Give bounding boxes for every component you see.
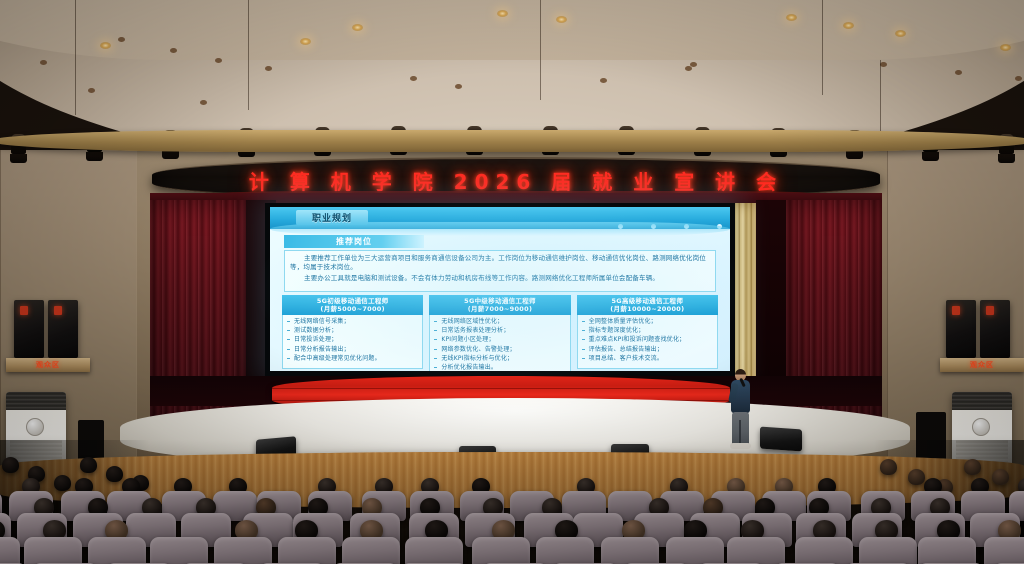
downlight-icon	[895, 30, 906, 37]
column-salary: (月薪10000~20000)	[577, 305, 718, 313]
slide-paragraph-box: 主要推荐工作单位为三大运营商项目和服务商通信设备公司为主。工作岗位为移动通信维护…	[284, 250, 716, 292]
slide-paragraph: 主要办公工具就是电脑和测试设备。不会有体力劳动和机房布线等工作内容。路测网络优化…	[290, 274, 710, 283]
ceiling-fixture-dot	[215, 58, 222, 63]
column-title: 5G初级移动通信工程师	[282, 297, 423, 305]
presenter-legs	[732, 412, 749, 445]
slide-column-header: 5G初级移动通信工程师 (月薪5000~7000)	[282, 295, 423, 315]
ac-grill	[6, 392, 66, 410]
list-item: 无线KPI指标分析与优化；	[441, 355, 566, 363]
ceiling-fixture-dot	[410, 76, 417, 81]
audience-seat	[536, 537, 594, 564]
downlight-icon	[1000, 44, 1011, 51]
slide-column-body: 无线网络信号采集； 测试数据分析； 日常投诉处理； 日常分析报告输出； 配合中高…	[282, 315, 423, 369]
ceiling-fixture-dot	[118, 37, 125, 42]
slide-column-group: 5G初级移动通信工程师 (月薪5000~7000) 无线网络信号采集； 测试数据…	[282, 295, 718, 369]
slide-title: 职业规划	[296, 210, 368, 225]
downlight-icon	[786, 14, 797, 21]
list-item: 配合中高级处理常见优化问题。	[294, 355, 419, 363]
column-title: 5G高级移动通信工程师	[577, 297, 718, 305]
hanging-wire	[822, 0, 823, 95]
ceiling-fixture-dot	[40, 60, 47, 65]
audience-seat	[214, 537, 272, 564]
ceiling-fixture-dot	[170, 48, 177, 53]
lighting-truss-ledge	[0, 130, 1024, 152]
presenter	[727, 369, 755, 451]
list-item: 网络参数优化、告警处理；	[441, 346, 566, 354]
ceiling-fixture-dot	[690, 62, 697, 67]
ac-grill	[952, 392, 1012, 410]
speaker-indicator-led	[54, 306, 62, 315]
ceiling-fixture-dot	[88, 88, 95, 93]
ceiling-fixture-dot	[455, 84, 462, 89]
hanging-wire	[75, 0, 76, 115]
zone-sign-left: 观众区	[36, 360, 60, 370]
slide-column-body: 全网整体质量评估优化； 指标专题深度优化； 重点难点KPI和投诉问题查找优化； …	[577, 315, 718, 369]
downlight-icon	[100, 42, 111, 49]
ceiling-fixture-dot	[955, 70, 962, 75]
audience-seat	[666, 537, 724, 564]
ceiling-fixture-dot	[1015, 76, 1022, 81]
slide-column-body: 无线网络区域性优化； 日常话务报表处理分析； KPI问题小区处理； 网络参数优化…	[429, 315, 570, 371]
ceiling-fixture-dot	[685, 66, 692, 71]
slide-column-header: 5G高级移动通信工程师 (月薪10000~20000)	[577, 295, 718, 315]
list-item: 日常话务报表处理分析；	[441, 327, 566, 335]
audience-seat	[88, 537, 146, 564]
audience-seat	[0, 537, 20, 564]
list-item: 全网整体质量评估优化；	[589, 318, 714, 326]
audience-seat	[727, 537, 785, 564]
audience-member-head	[54, 475, 71, 491]
downlight-icon	[556, 16, 567, 23]
downlight-icon	[843, 22, 854, 29]
speaker-indicator-led	[20, 306, 28, 315]
column-list: 无线网络区域性优化； 日常话务报表处理分析； KPI问题小区处理； 网络参数优化…	[433, 318, 566, 371]
audience-seat	[150, 537, 208, 564]
audience-seat	[342, 537, 400, 564]
ceiling-fixture-dot	[600, 78, 607, 83]
slide-column: 5G高级移动通信工程师 (月薪10000~20000) 全网整体质量评估优化； …	[577, 295, 718, 369]
audience-member-head	[964, 459, 981, 475]
list-item: 分析优化报告输出。	[441, 364, 566, 371]
presenter-shoes	[730, 443, 751, 449]
audience-seat	[918, 537, 976, 564]
ceiling-fixture-dot	[880, 62, 887, 67]
hanging-wire	[248, 0, 249, 110]
presentation-slide: 职业规划 推荐岗位 主要推荐工作单位为三大运营商项目和服务商通信设备公司为主。工…	[270, 207, 730, 371]
speaker-indicator-led	[986, 306, 994, 315]
audience-seat	[278, 537, 336, 564]
slide-section-heading: 推荐岗位	[284, 235, 424, 248]
speaker-cabinet-icon	[48, 300, 78, 358]
ceiling-band-inner	[0, 0, 1024, 60]
audience-member-head	[908, 469, 925, 485]
list-item: 无线网络信号采集；	[294, 318, 419, 326]
list-item: 重点难点KPI和投诉问题查找优化；	[589, 336, 714, 344]
speaker-cabinet-icon	[946, 300, 976, 358]
hanging-wire	[540, 0, 541, 100]
audience-member-head	[880, 459, 897, 475]
audience-member-head	[80, 457, 97, 473]
column-list: 无线网络信号采集； 测试数据分析； 日常投诉处理； 日常分析报告输出； 配合中高…	[286, 318, 419, 363]
speaker-cabinet-icon	[14, 300, 44, 358]
speaker-indicator-led	[952, 306, 960, 315]
audience-member-head	[106, 466, 123, 482]
list-item: 日常投诉处理；	[294, 336, 419, 344]
slide-paragraph: 主要推荐工作单位为三大运营商项目和服务商通信设备公司为主。工作岗位为移动通信维护…	[290, 254, 710, 272]
audience-seat	[601, 537, 659, 564]
downlight-icon	[352, 24, 363, 31]
audience-member-head	[992, 469, 1009, 485]
slide-column: 5G中级移动通信工程师 (月薪7000~9000) 无线网络区域性优化； 日常话…	[429, 295, 570, 369]
downlight-icon	[300, 38, 311, 45]
list-item: 项目总结、客户技术交流。	[589, 355, 714, 363]
audience-member-head	[2, 457, 19, 473]
ceiling-fixture-dot	[265, 66, 272, 71]
list-item: 指标专题深度优化；	[589, 327, 714, 335]
list-item: KPI问题小区处理；	[441, 336, 566, 344]
list-item: 日常分析报告输出；	[294, 346, 419, 354]
audience-seat	[405, 537, 463, 564]
stage-monitor-icon	[760, 427, 802, 452]
list-item: 测试数据分析；	[294, 327, 419, 335]
slide-column: 5G初级移动通信工程师 (月薪5000~7000) 无线网络信号采集； 测试数据…	[282, 295, 423, 369]
column-salary: (月薪7000~9000)	[429, 305, 570, 313]
audience-seat	[984, 537, 1024, 564]
speaker-cabinet-icon	[980, 300, 1010, 358]
slide-decor-dots	[590, 214, 722, 233]
list-item: 评估报告、总结报告输出；	[589, 346, 714, 354]
downlight-icon	[497, 10, 508, 17]
audience-seat	[859, 537, 917, 564]
column-title: 5G中级移动通信工程师	[429, 297, 570, 305]
audience-seat	[24, 537, 82, 564]
ac-dial	[972, 418, 990, 436]
column-salary: (月薪5000~7000)	[282, 305, 423, 313]
projection-screen: 职业规划 推荐岗位 主要推荐工作单位为三大运营商项目和服务商通信设备公司为主。工…	[265, 203, 735, 376]
list-item: 无线网络区域性优化；	[441, 318, 566, 326]
audience-seat	[472, 537, 530, 564]
column-list: 全网整体质量评估优化； 指标专题深度优化； 重点难点KPI和投诉问题查找优化； …	[581, 318, 714, 363]
ac-dial	[26, 418, 44, 436]
zone-sign-right: 观众区	[970, 360, 994, 370]
audience-seat	[795, 537, 853, 564]
zone-shelf-right: 观众区	[940, 358, 1024, 372]
audience-seating	[0, 455, 1024, 564]
zone-shelf-left: 观众区	[6, 358, 90, 372]
slide-column-header: 5G中级移动通信工程师 (月薪7000~9000)	[429, 295, 570, 315]
auditorium-photo: 计 算 机 学 院 2026 届 就 业 宣 讲 会 职业规划 推荐岗位 主要推…	[0, 0, 1024, 564]
